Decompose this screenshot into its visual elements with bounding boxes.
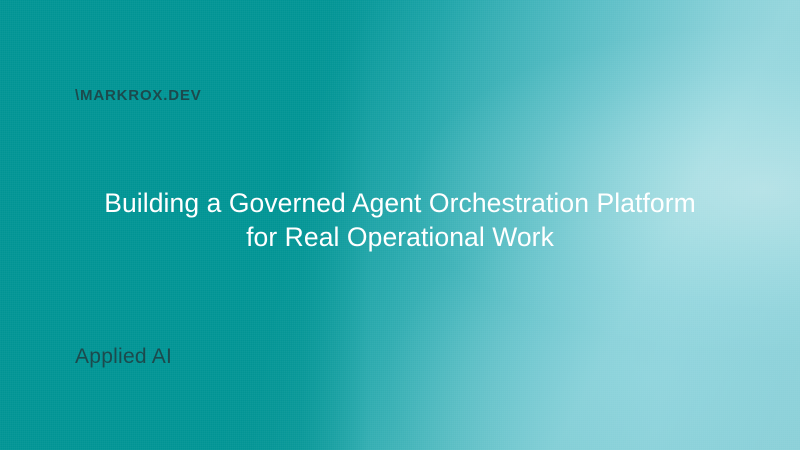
slide-title: Building a Governed Agent Orchestration … xyxy=(0,186,800,255)
title-line-1: Building a Governed Agent Orchestration … xyxy=(56,186,744,220)
cover-slide: \MARKROX.DEV Building a Governed Agent O… xyxy=(0,0,800,450)
slide-content: \MARKROX.DEV Building a Governed Agent O… xyxy=(0,0,800,450)
brand-wordmark: \MARKROX.DEV xyxy=(75,88,202,103)
title-line-2: for Real Operational Work xyxy=(56,220,744,254)
category-label: Applied AI xyxy=(75,346,172,367)
